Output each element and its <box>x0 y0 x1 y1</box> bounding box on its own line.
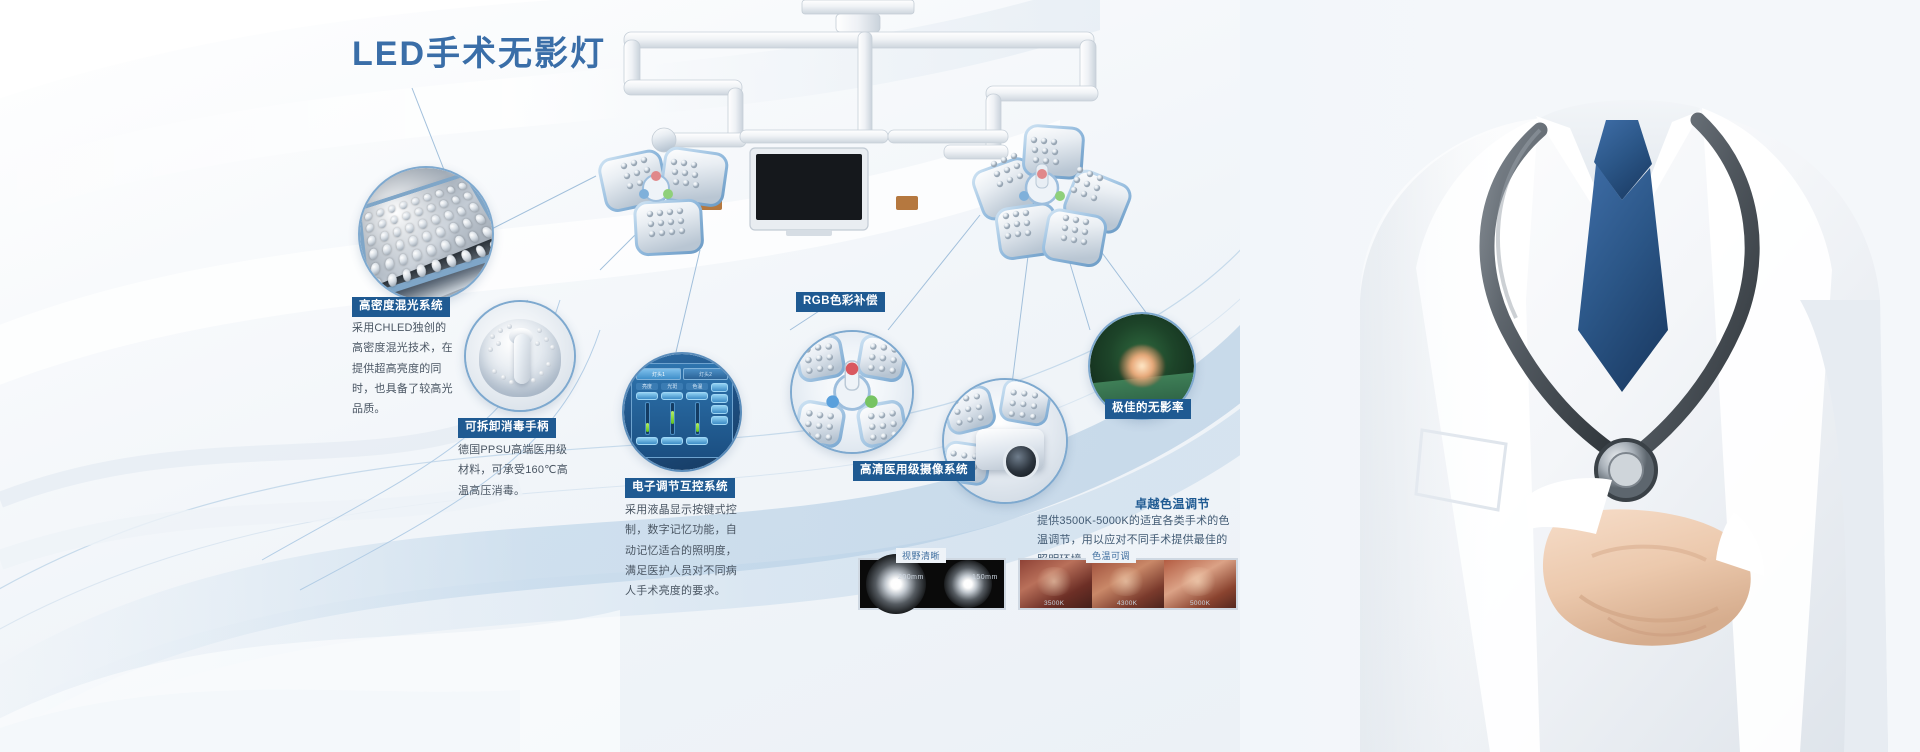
lcd-spot-up-button[interactable] <box>661 392 683 400</box>
beam-spot-large <box>860 560 932 608</box>
callout-circle-handle <box>464 300 576 412</box>
badge-excellent-shadowless-rate: 极佳的无影率 <box>1105 399 1191 419</box>
rgb-green-led <box>865 395 878 408</box>
lcd-tab-2[interactable]: 灯头2 <box>683 368 728 380</box>
badge-color-temperature-adjust: 卓越色温调节 <box>1135 498 1210 511</box>
para-electronic-control-system: 采用液晶显示按键式控制，数字记忆功能，自动记忆适合的照明度，满足医护人员对不同病… <box>625 500 747 602</box>
led-panel-macro <box>360 168 492 300</box>
lcd-tabs[interactable]: 灯头1 灯头2 <box>636 368 728 380</box>
lcd-column-spot[interactable]: 光斑 <box>661 383 683 444</box>
lcd-spot-slider[interactable] <box>670 402 675 434</box>
lcd-power-on-button[interactable] <box>711 383 728 392</box>
callout-circle-rgb-lamp <box>790 330 914 454</box>
color-temp-label-4300k: 4300K <box>1117 600 1137 607</box>
lcd-column-brightness[interactable]: 亮度 <box>636 383 658 444</box>
callout-circle-lcd-panel: 灯头1 灯头2 亮度 光斑 <box>622 352 742 472</box>
field-clarity-title: 视野清晰 <box>896 548 946 563</box>
doctor-photo <box>1240 0 1920 752</box>
camera-lens <box>1003 443 1040 480</box>
poster-stage: LED手术无影灯 <box>0 0 1920 752</box>
lcd-cap-spot: 光斑 <box>661 383 683 390</box>
lcd-color-temp-up-button[interactable] <box>686 392 708 400</box>
lcd-cap-color-temp: 色温 <box>686 383 708 390</box>
badge-hd-medical-camera: 高清医用级摄像系统 <box>853 461 975 481</box>
rgb-blue-led <box>826 395 839 408</box>
rgb-red-led <box>846 362 859 375</box>
field-clarity-panel <box>858 558 1006 610</box>
callout-circle-camera <box>942 378 1068 504</box>
lcd-brightness-slider[interactable] <box>645 402 650 434</box>
badge-rgb-color-compensation: RGB色彩补偿 <box>796 292 885 312</box>
lcd-brightness-down-button[interactable] <box>636 437 658 445</box>
badge-detachable-handle: 可拆卸消毒手柄 <box>458 418 556 438</box>
beam-spot-small <box>932 560 1004 608</box>
lcd-aux-button[interactable] <box>711 416 728 425</box>
badge-high-density-light-mixing: 高密度混光系统 <box>352 297 450 317</box>
color-temp-label-3500k: 3500K <box>1044 600 1064 607</box>
field-clarity-caption-1: 200mm <box>898 574 924 581</box>
lcd-control-panel: 灯头1 灯头2 亮度 光斑 <box>624 354 740 470</box>
color-temperature-title: 色温可调 <box>1086 548 1136 563</box>
lcd-side-buttons[interactable] <box>711 383 728 444</box>
lcd-cap-brightness: 亮度 <box>636 383 658 390</box>
badge-electronic-control-system: 电子调节互控系统 <box>625 478 735 498</box>
callout-circle-led-panel <box>358 166 494 302</box>
field-clarity-caption-2: 150mm <box>972 574 998 581</box>
lcd-color-temp-slider[interactable] <box>695 402 700 434</box>
color-temp-label-5000k: 5000K <box>1190 600 1210 607</box>
lcd-column-color-temp[interactable]: 色温 <box>686 383 708 444</box>
lcd-brightness-up-button[interactable] <box>636 392 658 400</box>
lcd-power-off-button[interactable] <box>711 394 728 403</box>
lcd-color-temp-down-button[interactable] <box>686 437 708 445</box>
lcd-set-button[interactable] <box>711 405 728 414</box>
para-high-density-light-mixing: 采用CHLED独创的高密度混光技术，在提供超高亮度的同时，也具备了较高光品质。 <box>352 318 456 420</box>
handle-macro <box>466 302 574 410</box>
lcd-spot-down-button[interactable] <box>661 437 683 445</box>
para-detachable-handle: 德国PPSU高端医用级材料，可承受160℃高温高压消毒。 <box>458 440 574 501</box>
lcd-tab-1[interactable]: 灯头1 <box>636 368 681 380</box>
